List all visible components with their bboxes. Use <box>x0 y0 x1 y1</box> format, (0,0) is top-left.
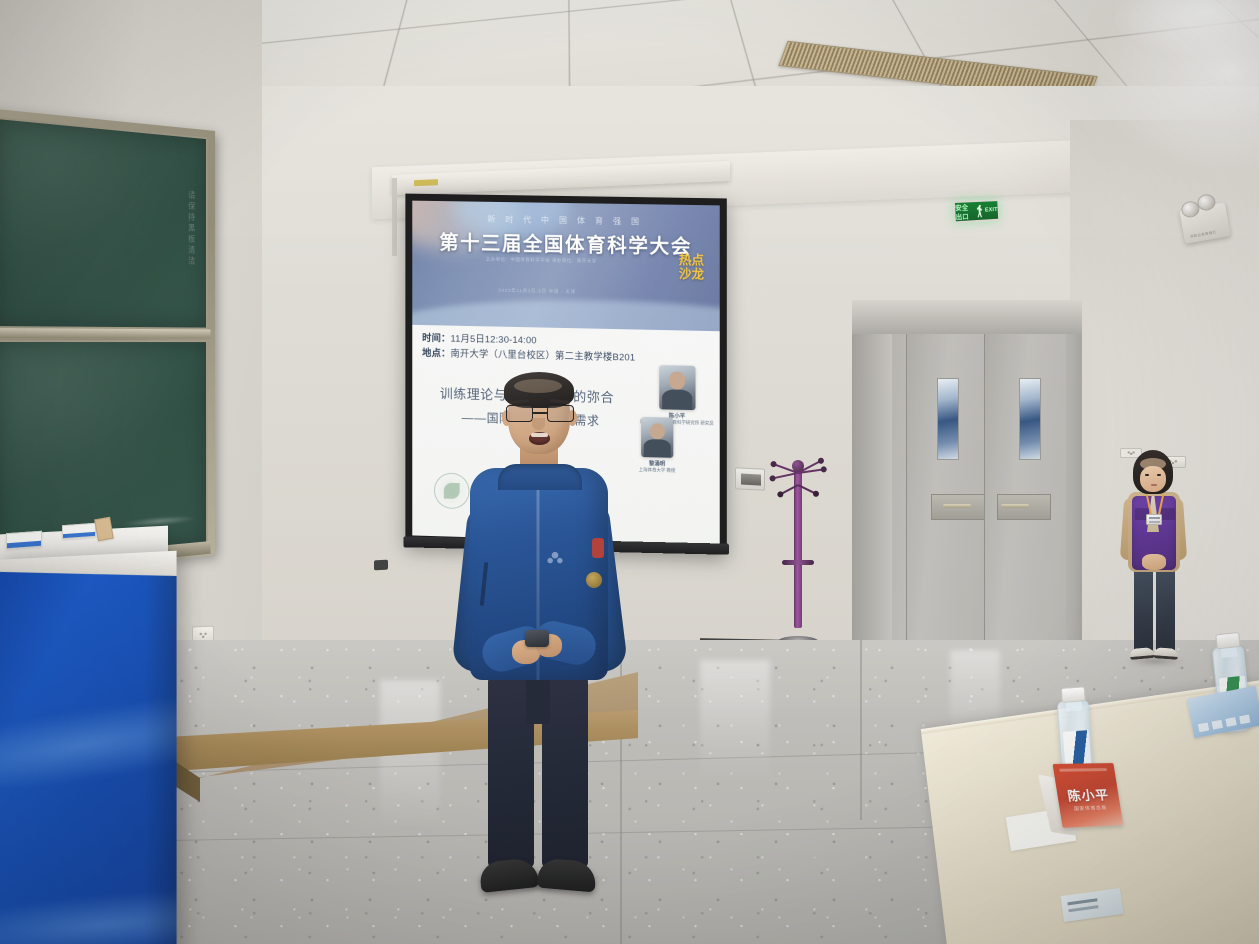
slide-place-label: 地点： <box>422 347 450 359</box>
volunteer-hands <box>1142 554 1166 570</box>
banner-artwork: 国 学大会 ENCE OF CHINA <box>0 551 177 944</box>
slide-speaker-group: 陈小平 国家体育总局 体育科学研究所 研究员 黎涌明 上海体育大学 教授 <box>619 364 716 532</box>
volunteer-person <box>1110 450 1196 680</box>
floor-reflection <box>700 660 770 780</box>
exit-sign: 安全出口 EXIT <box>953 199 1000 223</box>
door-handle-icon[interactable] <box>1001 504 1029 508</box>
slide-header-band: 新 时 代 中 国 体 育 强 国 第十三届全国体育科学大会 主办单位：中国体育… <box>412 201 719 332</box>
blackboard-panel-upper: 请保持黑板清洁 <box>0 117 207 330</box>
jacket-sleeve-patch <box>592 538 604 558</box>
volunteer-leg <box>1156 568 1175 652</box>
presenter-nose <box>532 418 545 430</box>
running-person-icon <box>976 204 983 217</box>
slide-session-badge: 热点 沙龙 <box>671 253 711 282</box>
glasses-lens <box>547 405 574 422</box>
tent-card-accent <box>1059 768 1107 772</box>
coat-rack-pole <box>794 468 802 628</box>
speaker-portrait <box>641 417 673 458</box>
bottle-cap[interactable] <box>1215 632 1240 649</box>
door-left[interactable] <box>906 334 984 656</box>
slide-time-label: 时间： <box>422 332 450 344</box>
vest-pocket <box>1161 508 1175 520</box>
housing-label <box>414 179 438 186</box>
presenter-clicker[interactable] <box>525 630 549 647</box>
door-header <box>852 300 1082 334</box>
wall-control-panel[interactable] <box>735 467 765 491</box>
conference-banner: 国 学大会 ENCE OF CHINA <box>0 551 177 944</box>
exit-sign-english-text: EXIT <box>985 207 998 214</box>
blackboard-rail <box>0 328 211 338</box>
presenter-shoe <box>537 858 597 893</box>
blackboard-notice-text: 请保持黑板清洁 <box>189 190 197 267</box>
tent-card-subtitle: 国家体育总局 <box>1059 804 1121 813</box>
booklet-stack[interactable] <box>62 523 96 539</box>
jacket-logo-icon <box>544 548 566 566</box>
tent-card-name: 陈小平 <box>1056 784 1120 805</box>
banner-shading <box>145 551 177 944</box>
badge-line-1: 热点 <box>679 253 704 268</box>
door-jamb <box>852 300 892 660</box>
floor-seam <box>860 640 862 820</box>
slide-meta-block: 时间：11月5日12:30-14:00 地点：南开大学（八里台校区）第二主教学楼… <box>422 330 710 367</box>
speaker-affiliation: 上海体育大学 教授 <box>639 467 676 474</box>
badge-line-2: 沙龙 <box>679 267 704 282</box>
slide-place-value: 南开大学（八里台校区）第二主教学楼B201 <box>450 348 635 363</box>
presenter-person <box>452 372 624 902</box>
door-handle-icon[interactable] <box>943 504 971 508</box>
coat-rack[interactable] <box>770 450 826 650</box>
speaker-portrait <box>659 365 695 410</box>
emergency-light-label: 消防应急照明灯 <box>1190 229 1217 239</box>
door-vision-panel <box>937 378 959 460</box>
screen-bracket <box>392 178 397 256</box>
glasses-bridge <box>533 412 547 414</box>
staff-badge <box>1146 514 1162 525</box>
exit-sign-chinese-text: 安全出口 <box>955 202 975 221</box>
blackboard: 请保持黑板清洁 请勿乱涂乱画谢谢 <box>0 108 215 578</box>
jacket-collar <box>498 464 582 490</box>
volunteer-leg <box>1134 568 1153 652</box>
screen-mount-knob <box>374 560 388 571</box>
photo-scene: 请保持黑板清洁 请勿乱涂乱画谢谢 新 时 代 中 国 体 育 强 国 第十三届全… <box>0 0 1259 944</box>
coat-rack-collar <box>782 560 814 565</box>
slide-conference-date: 2023年11月3日-5日 中国 · 天津 <box>412 286 663 297</box>
speaker-card: 黎涌明 上海体育大学 教授 <box>639 417 676 475</box>
door-right[interactable] <box>984 334 1066 656</box>
ceiling-light-glow <box>1110 0 1259 60</box>
volunteer-shoe <box>1154 647 1179 660</box>
name-tent-card[interactable]: 陈小平 国家体育总局 <box>1039 759 1123 838</box>
volunteer-face <box>1140 466 1166 492</box>
volunteer-legs <box>1134 568 1176 658</box>
booklet-stack[interactable] <box>6 531 42 550</box>
jacket-emblem-icon <box>586 572 602 588</box>
slide-time-value: 11月5日12:30-14:00 <box>450 333 536 346</box>
volunteer-mouth <box>1151 484 1157 486</box>
glasses-lens <box>506 405 533 422</box>
slide-wave-decor <box>412 297 719 332</box>
door-vision-panel <box>1019 378 1041 460</box>
bottle-cap[interactable] <box>1061 686 1086 703</box>
tent-card-front: 陈小平 国家体育总局 <box>1053 763 1124 828</box>
volunteer-shoe <box>1130 647 1155 660</box>
presenter-mouth <box>529 432 550 445</box>
presenter-legs <box>486 672 590 884</box>
blackboard-frame: 请保持黑板清洁 请勿乱涂乱画谢谢 <box>0 108 215 578</box>
